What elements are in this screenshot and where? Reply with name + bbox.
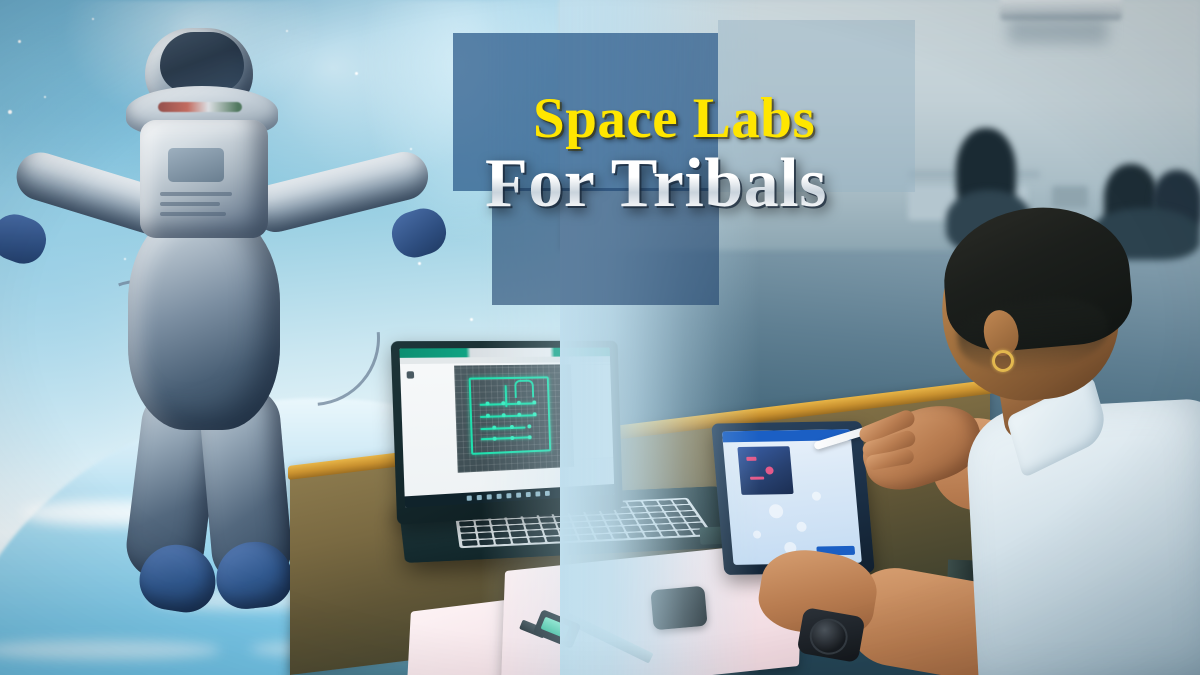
- title-block: Space Labs For Tribals: [455, 90, 975, 219]
- key[interactable]: [571, 516, 587, 522]
- key[interactable]: [545, 536, 561, 542]
- key[interactable]: [646, 506, 662, 511]
- astronaut-torso: [128, 210, 280, 430]
- title-line-2: For Tribals: [485, 149, 975, 219]
- key[interactable]: [495, 538, 511, 544]
- key[interactable]: [587, 515, 603, 520]
- taskbar-icon[interactable]: [487, 494, 492, 499]
- ui-bubble: [753, 530, 762, 538]
- pack-detail-line: [160, 212, 226, 216]
- key[interactable]: [628, 532, 645, 538]
- key[interactable]: [640, 525, 657, 531]
- key[interactable]: [658, 500, 674, 505]
- key[interactable]: [668, 517, 685, 523]
- key[interactable]: [602, 514, 618, 519]
- taskbar-icon[interactable]: [526, 492, 531, 497]
- cad-tool-icon[interactable]: [407, 371, 415, 378]
- taskbar-icon[interactable]: [467, 495, 472, 500]
- key[interactable]: [605, 520, 621, 526]
- taskbar-icon[interactable]: [506, 493, 511, 498]
- key[interactable]: [509, 525, 525, 531]
- taskbar-icon[interactable]: [535, 491, 540, 496]
- key[interactable]: [592, 527, 609, 533]
- ac-unit-shadow: [1008, 18, 1108, 44]
- video-thumbnail: Space Labs For Tribals: [0, 0, 1200, 675]
- key[interactable]: [660, 531, 677, 537]
- key[interactable]: [680, 511, 697, 516]
- key[interactable]: [672, 524, 689, 530]
- tablet-design-preview[interactable]: [737, 446, 793, 495]
- key[interactable]: [477, 533, 493, 539]
- taskbar-icon[interactable]: [497, 494, 502, 499]
- key[interactable]: [460, 527, 475, 533]
- key[interactable]: [618, 514, 634, 519]
- pack-detail-line: [160, 192, 232, 196]
- title-line-1: Space Labs: [533, 90, 975, 147]
- background-equipment: [1052, 186, 1088, 208]
- key[interactable]: [656, 524, 673, 530]
- key[interactable]: [630, 507, 646, 512]
- key[interactable]: [611, 533, 628, 539]
- key[interactable]: [627, 501, 643, 506]
- key[interactable]: [461, 533, 476, 539]
- laptop-screen[interactable]: [399, 347, 614, 507]
- key[interactable]: [573, 522, 589, 528]
- key[interactable]: [479, 539, 495, 545]
- key[interactable]: [673, 499, 689, 504]
- black-enclosure-box: [650, 586, 707, 631]
- laptop-lid: [391, 341, 623, 525]
- key[interactable]: [557, 523, 573, 529]
- key[interactable]: [621, 520, 638, 526]
- key[interactable]: [665, 512, 682, 517]
- key[interactable]: [608, 527, 625, 533]
- ui-bubble: [768, 504, 783, 518]
- astronaut-left-glove: [0, 208, 52, 270]
- astronaut-visor: [160, 32, 244, 92]
- cad-toolbar-second-row[interactable]: [400, 356, 610, 364]
- earring-icon: [992, 350, 1014, 372]
- key[interactable]: [459, 521, 474, 527]
- key[interactable]: [576, 528, 592, 534]
- key[interactable]: [476, 526, 491, 532]
- key[interactable]: [555, 516, 571, 522]
- key[interactable]: [589, 521, 605, 527]
- taskbar-icon[interactable]: [516, 492, 521, 497]
- taskbar-icon[interactable]: [545, 491, 550, 496]
- key[interactable]: [624, 526, 641, 532]
- cad-properties-panel[interactable]: [575, 364, 615, 460]
- ac-unit-icon: [1000, 0, 1122, 20]
- key[interactable]: [523, 518, 539, 524]
- star: [470, 318, 473, 321]
- astronaut-right-glove: [386, 203, 452, 263]
- key[interactable]: [684, 517, 701, 523]
- key[interactable]: [578, 534, 595, 540]
- cad-canvas[interactable]: [454, 364, 574, 473]
- pcb-connector-tab: [514, 380, 534, 398]
- tablet-screen[interactable]: [722, 429, 862, 565]
- key[interactable]: [525, 524, 541, 530]
- key[interactable]: [562, 535, 579, 541]
- pack-panel: [168, 148, 224, 182]
- watch-face: [807, 616, 851, 658]
- key[interactable]: [653, 518, 670, 524]
- key[interactable]: [595, 534, 612, 540]
- key[interactable]: [462, 540, 478, 546]
- key[interactable]: [512, 538, 528, 544]
- key[interactable]: [560, 529, 576, 535]
- ui-bubble: [796, 522, 807, 532]
- key[interactable]: [634, 513, 650, 518]
- pack-detail-line: [160, 202, 220, 206]
- key[interactable]: [676, 505, 692, 510]
- astronaut-flag-stripe: [158, 102, 242, 112]
- key[interactable]: [475, 520, 490, 526]
- pcb-board-outline: [469, 376, 552, 454]
- key[interactable]: [527, 530, 543, 536]
- key[interactable]: [676, 530, 693, 536]
- taskbar-icon[interactable]: [477, 495, 482, 500]
- key[interactable]: [539, 517, 555, 523]
- key[interactable]: [541, 523, 557, 529]
- ui-bubble: [812, 492, 822, 501]
- key[interactable]: [507, 519, 522, 525]
- key[interactable]: [493, 526, 508, 532]
- key[interactable]: [491, 519, 506, 525]
- key[interactable]: [644, 531, 661, 537]
- key[interactable]: [543, 530, 559, 536]
- windows-taskbar[interactable]: [405, 484, 615, 508]
- key[interactable]: [494, 532, 510, 538]
- key[interactable]: [510, 531, 526, 537]
- key[interactable]: [649, 512, 666, 517]
- key[interactable]: [661, 506, 677, 511]
- key[interactable]: [637, 519, 654, 525]
- key[interactable]: [529, 537, 545, 543]
- key[interactable]: [642, 501, 658, 506]
